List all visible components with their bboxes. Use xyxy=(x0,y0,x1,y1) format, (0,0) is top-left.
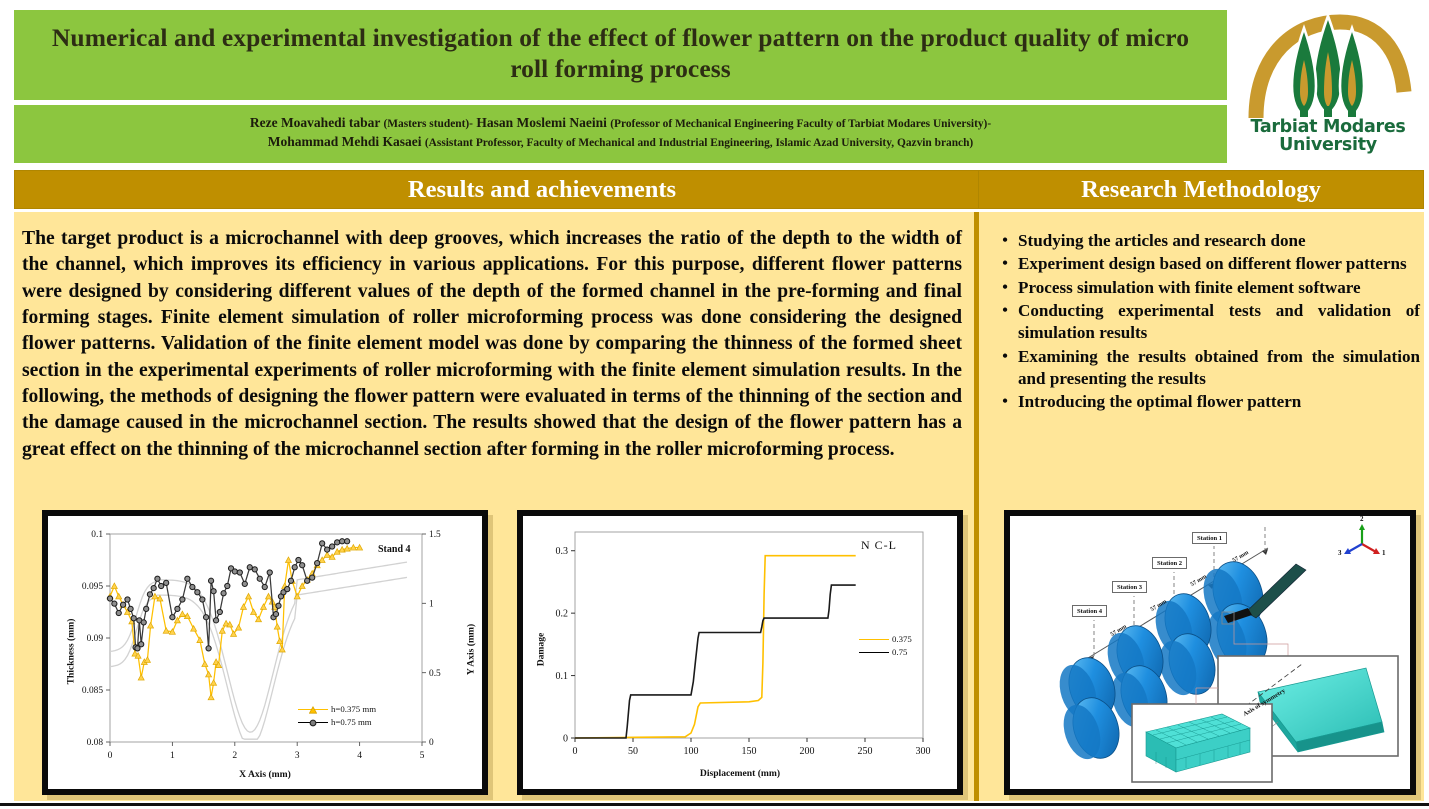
svg-text:0.085: 0.085 xyxy=(82,686,103,696)
list-item: • Process simulation with finite element… xyxy=(992,277,1420,299)
chart2-legend: 0.375 0.75 xyxy=(859,634,912,660)
legend-swatch-black xyxy=(859,652,889,653)
author-2-affiliation: (Professor of Mechanical Engineering Fac… xyxy=(610,118,991,130)
svg-text:5: 5 xyxy=(420,750,425,761)
bullet-icon: • xyxy=(992,346,1018,368)
circle-marker-icon xyxy=(309,719,317,727)
list-item-label: Conducting experimental tests and valida… xyxy=(1018,300,1420,344)
thickness-chart-svg: 0123450.080.0850.090.0950.100.511.5 xyxy=(48,516,482,789)
svg-text:4: 4 xyxy=(357,750,362,761)
author-1-affiliation: (Masters student)- xyxy=(383,118,473,130)
bullet-icon: • xyxy=(992,277,1018,299)
svg-text:250: 250 xyxy=(858,746,873,757)
svg-text:300: 300 xyxy=(916,746,931,757)
svg-text:0.5: 0.5 xyxy=(429,669,441,679)
roll-forming-svg xyxy=(1010,516,1410,789)
list-item-label: Experiment design based on different flo… xyxy=(1018,253,1420,275)
svg-text:1: 1 xyxy=(170,750,175,761)
bullet-icon: • xyxy=(992,391,1018,413)
svg-text:200: 200 xyxy=(800,746,815,757)
logo-text: Tarbiat Modares University xyxy=(1234,118,1422,154)
svg-text:3: 3 xyxy=(295,750,300,761)
axis-label-3: 3 xyxy=(1338,549,1342,557)
bullet-icon: • xyxy=(992,230,1018,252)
chart1-y2label: Y Axis (mm) xyxy=(466,605,477,695)
legend-label: 0.75 xyxy=(892,647,907,657)
chart1-annotation: Stand 4 xyxy=(378,544,411,555)
svg-text:0.09: 0.09 xyxy=(87,634,104,644)
list-item-label: Introducing the optimal flower pattern xyxy=(1018,391,1420,413)
station-label-1: Station 1 xyxy=(1192,532,1227,544)
bullet-icon: • xyxy=(992,253,1018,275)
logo-text-line1: Tarbiat Modares xyxy=(1234,118,1422,136)
svg-text:0: 0 xyxy=(563,733,568,744)
section-header-methodology: Research Methodology xyxy=(978,170,1424,209)
figure-damage-displacement: 05010015020025030000.10.20.3 Damage Disp… xyxy=(517,510,963,795)
legend-entry: h=0.75 mm xyxy=(298,717,376,727)
authors-band: Reze Moavahedi tabar (Masters student)- … xyxy=(14,105,1227,163)
legend-entry: 0.75 xyxy=(859,647,912,657)
legend-label: 0.375 xyxy=(892,634,912,644)
svg-text:0.1: 0.1 xyxy=(556,671,569,682)
list-item: • Examining the results obtained from th… xyxy=(992,346,1420,390)
poster-header: Numerical and experimental investigation… xyxy=(14,10,1227,163)
station-label-2: Station 2 xyxy=(1152,557,1187,569)
legend-entry: h=0.375 mm xyxy=(298,704,376,714)
svg-text:0.1: 0.1 xyxy=(91,530,103,540)
list-item: • Studying the articles and research don… xyxy=(992,230,1420,252)
svg-text:0: 0 xyxy=(573,746,578,757)
legend-label: h=0.375 mm xyxy=(331,704,376,714)
station-label-4: Station 4 xyxy=(1072,605,1107,617)
methodology-list: • Studying the articles and research don… xyxy=(992,230,1420,415)
axis-label-1: 1 xyxy=(1382,549,1386,557)
tarbiat-modares-logo-icon xyxy=(1240,10,1416,122)
bottom-rule xyxy=(0,803,1429,806)
logo-text-line2: University xyxy=(1234,136,1422,154)
station-label-3: Station 3 xyxy=(1112,581,1147,593)
legend-label: h=0.75 mm xyxy=(331,717,372,727)
chart1-ylabel: Thickness (mm) xyxy=(66,597,77,707)
author-2-name: Hasan Moslemi Naeini xyxy=(476,115,607,130)
figure-roll-forming-schematic: Station 1 Station 2 Station 3 Station 4 … xyxy=(1004,510,1416,795)
svg-text:0: 0 xyxy=(108,750,113,761)
chart2-annotation: N C-L xyxy=(861,538,897,553)
svg-text:0.2: 0.2 xyxy=(556,609,569,620)
svg-text:0: 0 xyxy=(429,738,434,748)
section-header-results: Results and achievements xyxy=(14,170,1070,209)
legend-swatch-yellow xyxy=(859,639,889,640)
list-item-label: Process simulation with finite element s… xyxy=(1018,277,1420,299)
legend-entry: 0.375 xyxy=(859,634,912,644)
axis-label-2: 2 xyxy=(1360,516,1364,523)
bullet-icon: • xyxy=(992,300,1018,322)
author-3-affiliation: (Assistant Professor, Faculty of Mechani… xyxy=(425,137,973,149)
abstract-text: The target product is a microchannel wit… xyxy=(22,226,962,463)
figure-thickness-profile: 0123450.080.0850.090.0950.100.511.5 Thic… xyxy=(42,510,488,795)
chart1-xlabel: X Axis (mm) xyxy=(48,769,482,780)
list-item: • Experiment design based on different f… xyxy=(992,253,1420,275)
poster-root: Numerical and experimental investigation… xyxy=(0,0,1429,809)
svg-text:2: 2 xyxy=(232,750,237,761)
authors-line: Reze Moavahedi tabar (Masters student)- … xyxy=(250,114,991,151)
panel-divider xyxy=(976,212,979,801)
university-logo: Tarbiat Modares University xyxy=(1234,8,1422,163)
triangle-marker-icon xyxy=(309,706,317,714)
chart1-legend: h=0.375 mm h=0.75 mm xyxy=(298,704,376,730)
legend-swatch-yellow xyxy=(298,709,328,710)
list-item: • Conducting experimental tests and vali… xyxy=(992,300,1420,344)
list-item: • Introducing the optimal flower pattern xyxy=(992,391,1420,413)
svg-text:50: 50 xyxy=(628,746,638,757)
legend-swatch-black xyxy=(298,722,328,723)
list-item-label: Examining the results obtained from the … xyxy=(1018,346,1420,390)
svg-text:0.095: 0.095 xyxy=(82,582,103,592)
list-item-label: Studying the articles and research done xyxy=(1018,230,1420,252)
title-band: Numerical and experimental investigation… xyxy=(14,10,1227,100)
svg-text:1.5: 1.5 xyxy=(429,530,441,540)
chart2-ylabel: Damage xyxy=(536,610,547,690)
svg-text:0.08: 0.08 xyxy=(87,738,104,748)
svg-text:1: 1 xyxy=(429,600,434,610)
svg-text:100: 100 xyxy=(684,746,699,757)
page-title: Numerical and experimental investigation… xyxy=(40,22,1201,84)
author-1-name: Reze Moavahedi tabar xyxy=(250,115,380,130)
svg-text:0.3: 0.3 xyxy=(556,546,569,557)
author-3-name: Mohammad Mehdi Kasaei xyxy=(268,134,422,149)
svg-text:150: 150 xyxy=(742,746,757,757)
chart2-xlabel: Displacement (mm) xyxy=(523,768,957,779)
